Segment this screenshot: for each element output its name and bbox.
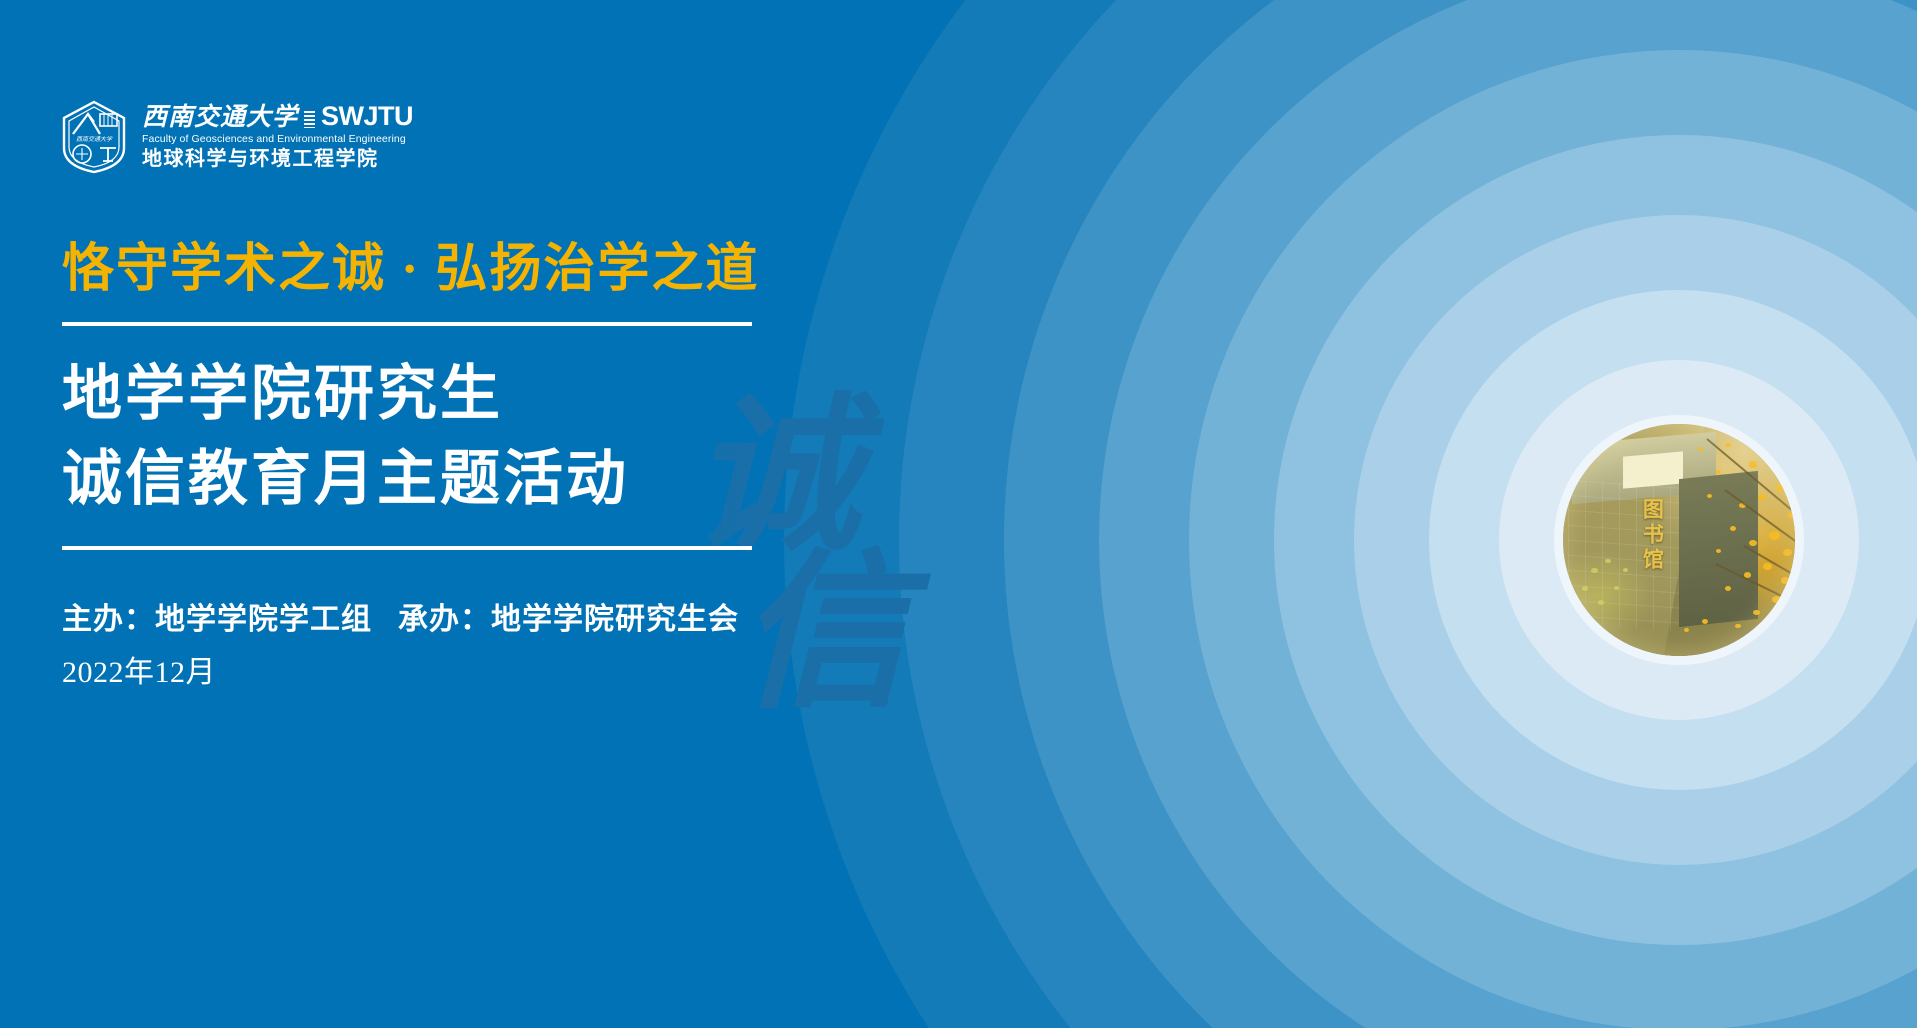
- logo-faculty-en: Faculty of Geosciences and Environmental…: [142, 133, 413, 147]
- slogan-text: 恪守学术之诚 · 弘扬治学之道: [62, 240, 882, 300]
- organizer-line: 主办：地学学院学工组承办：地学学院研究生会: [62, 594, 882, 647]
- co-organizer-label: 承办：: [398, 603, 491, 636]
- logo-divider-icon: [304, 111, 315, 128]
- credits-block: 主办：地学学院学工组承办：地学学院研究生会 2022年12月: [62, 594, 882, 699]
- logo-name-row: 西南交通大学 SWJTU: [142, 103, 413, 130]
- swjtu-crest-icon: 西南交通大学: [60, 100, 128, 174]
- svg-text:西南交通大学: 西南交通大学: [76, 135, 113, 143]
- swjtu-logo: 西南交通大学 西南交通大学 SWJTU Faculty of Geoscienc…: [60, 100, 413, 174]
- ginkgo-leaf: [1783, 452, 1790, 458]
- date-text: 2022年12月: [62, 647, 882, 700]
- ginkgo-leaf: [1767, 628, 1773, 633]
- logo-text-block: 西南交通大学 SWJTU Faculty of Geosciences and …: [142, 103, 413, 172]
- organizer-label: 主办：: [62, 603, 155, 636]
- main-title: 地学学院研究生 诚信教育月主题活动: [62, 352, 882, 522]
- logo-university-cn: 西南交通大学: [142, 105, 298, 130]
- divider-bottom: [62, 546, 752, 550]
- content-block: 恪守学术之诚 · 弘扬治学之道 地学学院研究生 诚信教育月主题活动 主办：地学学…: [62, 240, 882, 699]
- logo-university-abbr: SWJTU: [321, 103, 413, 130]
- logo-faculty-cn: 地球科学与环境工程学院: [142, 148, 413, 171]
- library-photo: 图书馆: [1563, 424, 1795, 656]
- divider-top: [62, 322, 752, 326]
- ginkgo-leaf: [1767, 433, 1776, 440]
- main-title-line-2: 诚信教育月主题活动: [62, 437, 882, 522]
- poster-canvas: 诚 信 西南交通大学 西南交通大学 SWJTU Faculty of Geosc…: [0, 0, 1917, 1028]
- photo-inner-glow: [1563, 424, 1795, 656]
- main-title-line-1: 地学学院研究生: [62, 352, 882, 437]
- ginkgo-leaf: [1786, 614, 1794, 620]
- organizer-value: 地学学院学工组: [155, 603, 372, 636]
- co-organizer-value: 地学学院研究生会: [491, 603, 739, 636]
